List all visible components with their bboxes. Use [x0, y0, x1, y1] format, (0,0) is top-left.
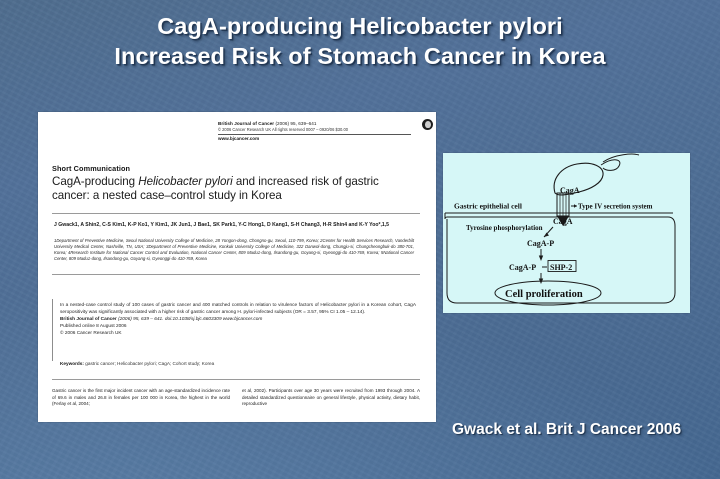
source-citation: Gwack et al. Brit J Cancer 2006: [452, 421, 681, 439]
author-list: J Gwack1, A Shin2, C-S Kim1, K-P Ko1, Y …: [54, 222, 416, 229]
pathway-diagram-image: CagA Type IV secretion system Gastric ep…: [443, 153, 690, 313]
abstract-reference: British Journal of Cancer (2006) 95, 639…: [60, 316, 416, 323]
published-online: Published online 8 August 2006: [60, 323, 416, 330]
journal-name: British Journal of Cancer: [218, 121, 274, 126]
gastric-epithelial-cell-label: Gastric epithelial cell: [454, 202, 522, 211]
tyrosine-phosphorylation-label: Tyrosine phosphorylation: [466, 224, 543, 232]
cell-proliferation-label: Cell proliferation: [505, 289, 583, 300]
body-columns: Gastric cancer is the first major incide…: [52, 388, 420, 408]
body-column-right: et al, 2002). Participants over age 30 y…: [242, 388, 420, 408]
article-title-species: Helicobacter pylori: [138, 175, 232, 188]
abstract-reference-rest: (2006) 95, 639 – 641. doi:10.1038/sj.bjc…: [117, 317, 263, 322]
caga-cytoplasm-label: CagA: [553, 217, 573, 226]
caga-p-complex-label: CagA-P: [509, 263, 536, 272]
nature-publishing-logo-icon: [422, 119, 433, 130]
slide-canvas: CagA-producing Helicobacter pylori Incre…: [0, 0, 720, 479]
journal-header-rule: [218, 134, 411, 135]
journal-website: www.bjcancer.com: [218, 136, 428, 142]
divider-middle: [52, 274, 420, 275]
divider-top: [52, 213, 420, 214]
slide-title-line1: CagA-producing Helicobacter pylori: [0, 11, 720, 41]
type-iv-secretion-label: Type IV secretion system: [578, 203, 653, 211]
slide-title: CagA-producing Helicobacter pylori Incre…: [0, 11, 720, 71]
keywords-value: gastric cancer; Helicobacter pylori; Cag…: [84, 361, 214, 366]
pathway-diagram-svg: CagA Type IV secretion system Gastric ep…: [443, 153, 690, 313]
section-label: Short Communication: [52, 164, 130, 173]
copyright-line: © 2006 Cancer Research UK: [60, 330, 416, 337]
body-column-left: Gastric cancer is the first major incide…: [52, 388, 230, 408]
affiliations: 1Department of Preventive Medicine, Seou…: [54, 238, 414, 262]
phosphorylation-arrow-icon: [544, 233, 549, 238]
divider-bottom: [52, 379, 420, 380]
keywords-label: Keywords:: [60, 361, 84, 366]
keywords-line: Keywords: gastric cancer; Helicobacter p…: [60, 360, 416, 367]
abstract-block: In a nested-case control study of 100 ca…: [60, 302, 416, 337]
caga-p-label: CagA-P: [527, 239, 554, 248]
article-title: CagA-producing Helicobacter pylori and i…: [52, 175, 412, 203]
slide-title-line2: Increased Risk of Stomach Cancer in Kore…: [0, 41, 720, 71]
article-title-part1: CagA-producing: [52, 175, 138, 188]
journal-header: British Journal of Cancer (2006) 95, 639…: [218, 121, 428, 142]
abstract-side-rule: [52, 299, 53, 361]
journal-copyright: © 2006 Cancer Research UK All rights res…: [218, 127, 428, 133]
abstract-text: In a nested-case control study of 100 ca…: [60, 302, 416, 316]
caga-p-arrow-icon: [539, 256, 543, 262]
paper-scan-image: British Journal of Cancer (2006) 95, 639…: [38, 112, 436, 422]
journal-volume-pages: (2006) 95, 639–641: [274, 121, 316, 126]
shp2-label: SHP-2: [550, 263, 572, 272]
abstract-reference-journal: British Journal of Cancer: [60, 317, 117, 322]
